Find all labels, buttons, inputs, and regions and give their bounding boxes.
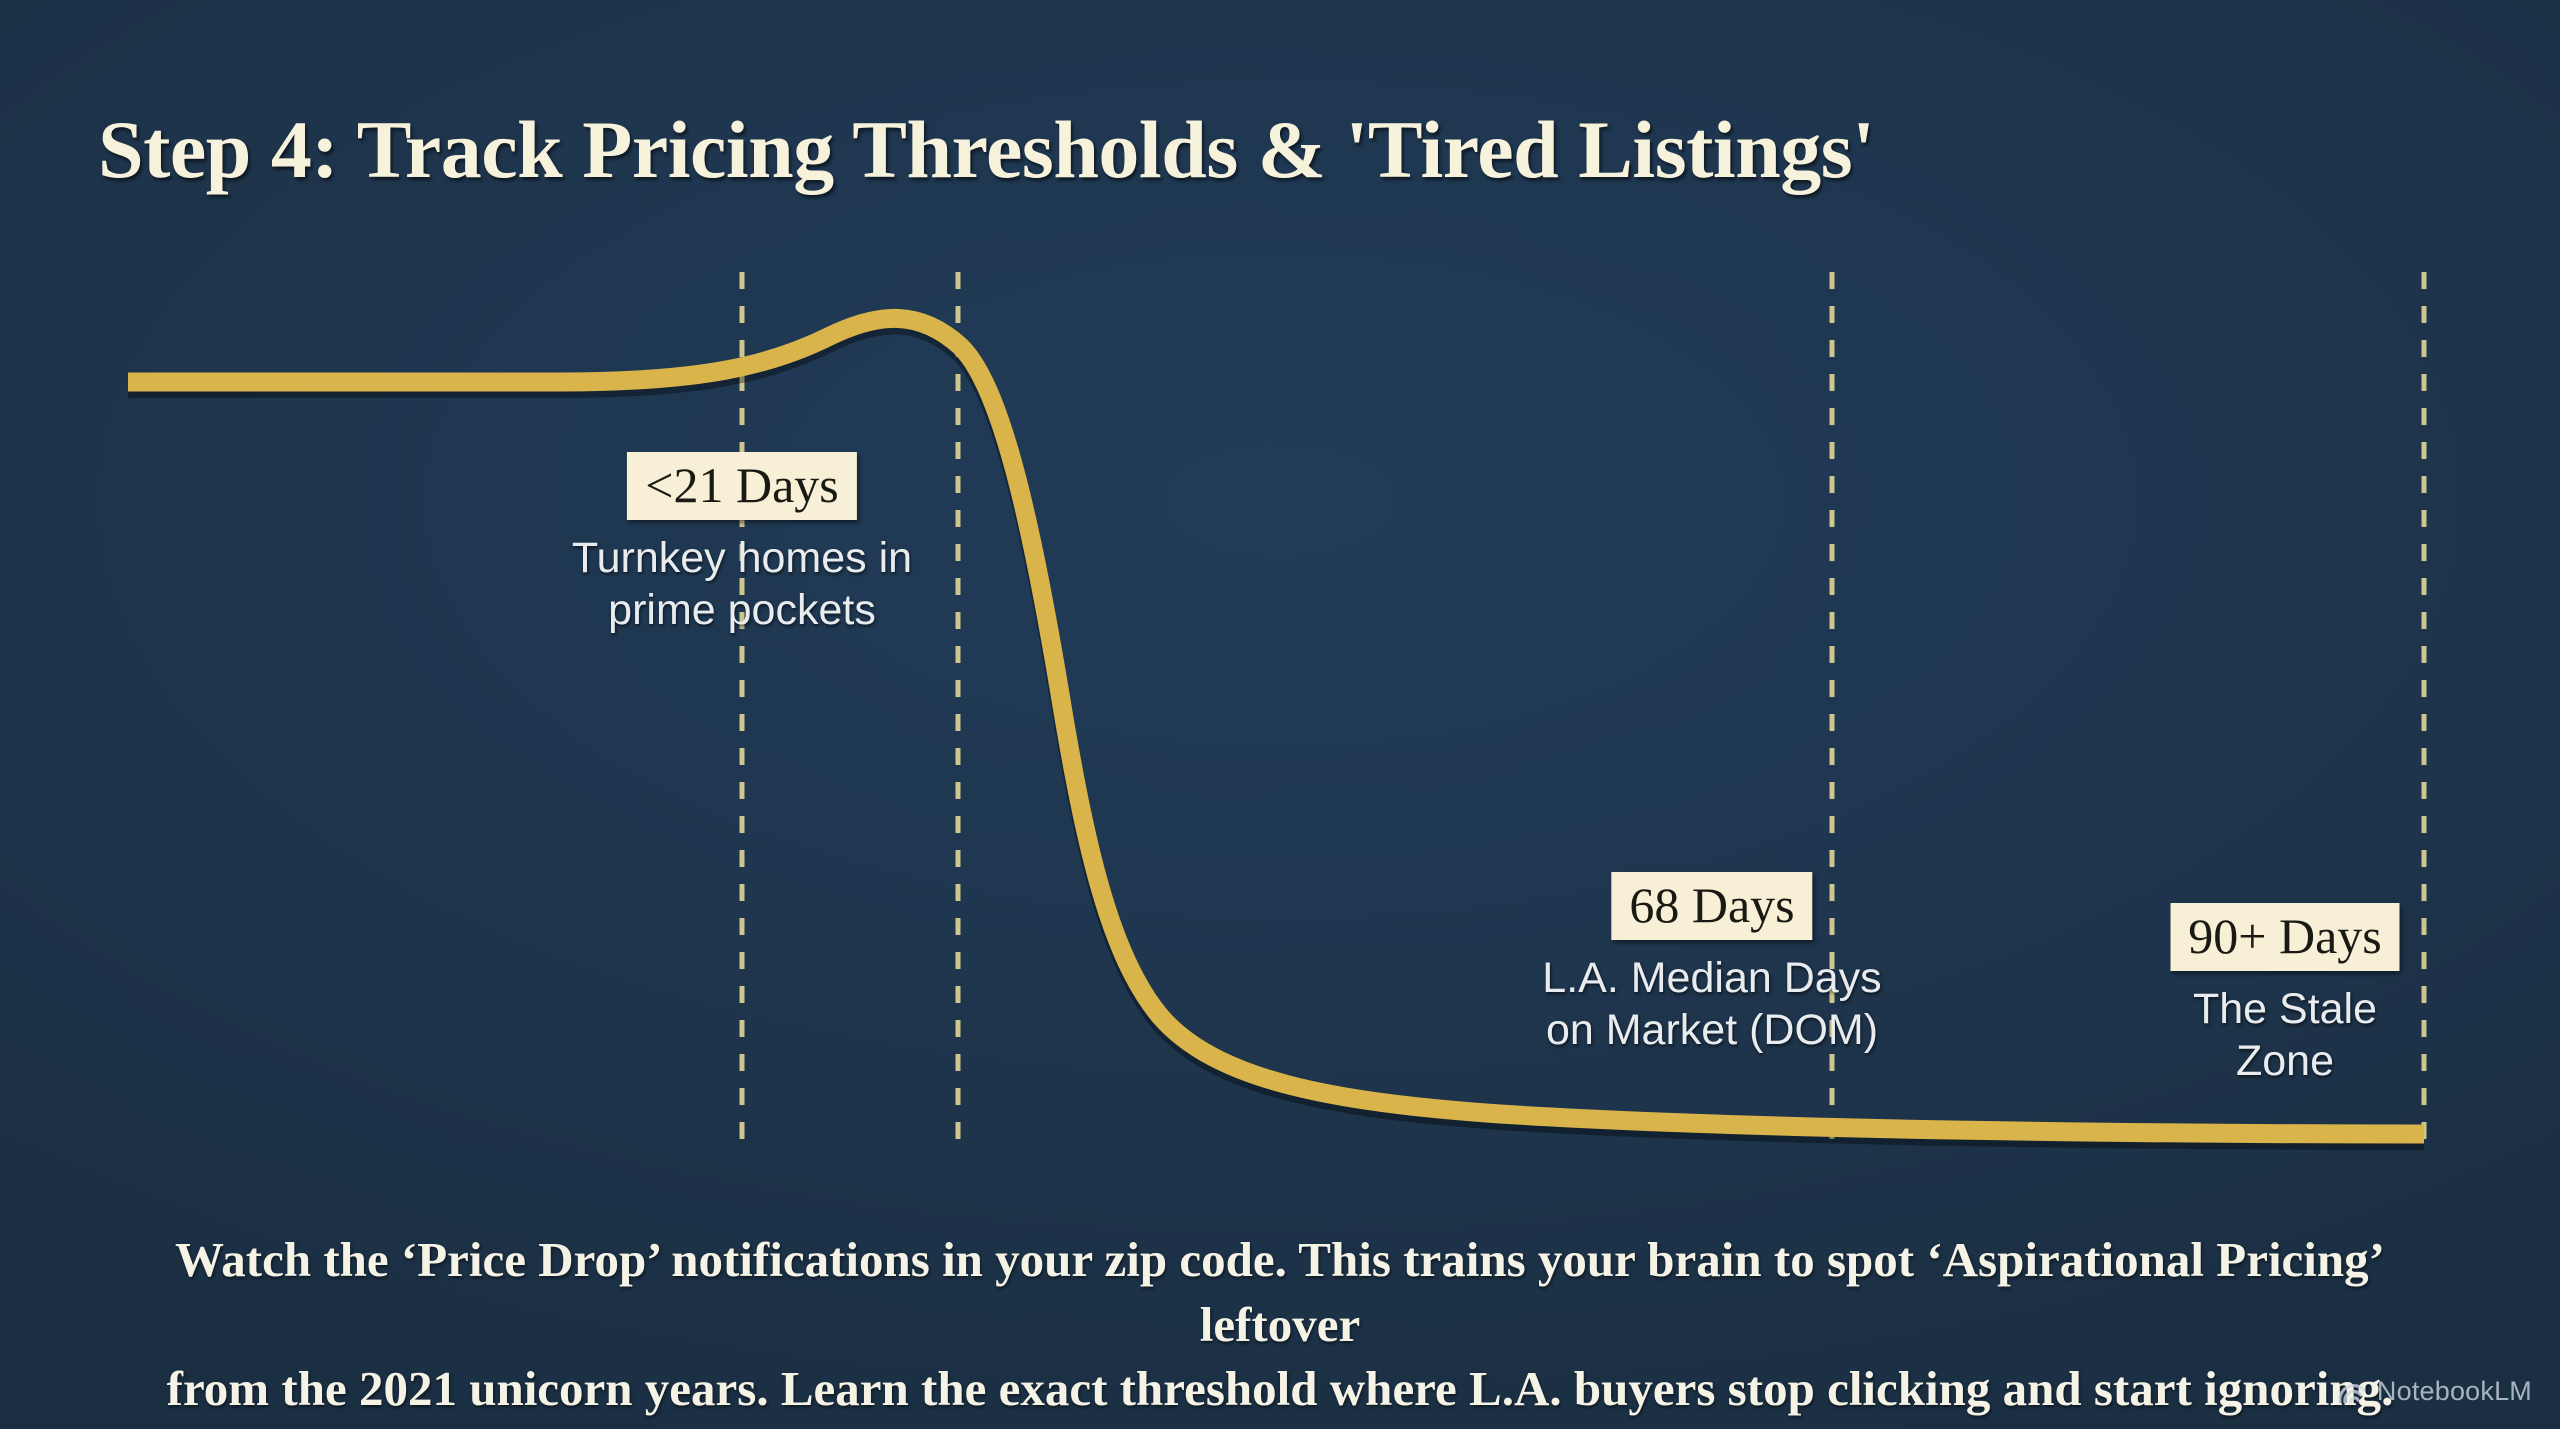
annotation-90-days: 90+ Days The Stale Zone: [2148, 903, 2423, 1088]
annotation-21-days: <21 Days Turnkey homes in prime pockets: [572, 452, 912, 637]
threshold-curve-chart: [0, 0, 2560, 1429]
notebooklm-arc-icon: [2338, 1379, 2368, 1405]
caption-block: Watch the ‘Price Drop’ notifications in …: [110, 1228, 2450, 1422]
annotation-desc-90-days: The Stale Zone: [2148, 983, 2423, 1088]
caption-line-1: Watch the ‘Price Drop’ notifications in …: [110, 1228, 2450, 1357]
annotation-desc-21-days: Turnkey homes in prime pockets: [572, 532, 912, 637]
annotation-68-days: 68 Days L.A. Median Days on Market (DOM): [1542, 872, 1881, 1057]
annotation-chip-90-days: 90+ Days: [2170, 903, 2399, 971]
annotation-chip-21-days: <21 Days: [627, 452, 856, 520]
annotation-desc-68-days: L.A. Median Days on Market (DOM): [1542, 952, 1881, 1057]
notebooklm-watermark-label: NotebookLM: [2377, 1376, 2532, 1407]
chart-area: [0, 0, 2560, 1429]
caption-line-2: from the 2021 unicorn years. Learn the e…: [110, 1357, 2450, 1422]
curve-shadow: [128, 324, 2424, 1140]
price-attention-curve: [128, 318, 2424, 1134]
notebooklm-watermark: NotebookLM: [2338, 1376, 2532, 1407]
annotation-chip-68-days: 68 Days: [1611, 872, 1812, 940]
slide-root: Step 4: Track Pricing Thresholds & 'Tire…: [0, 0, 2560, 1429]
